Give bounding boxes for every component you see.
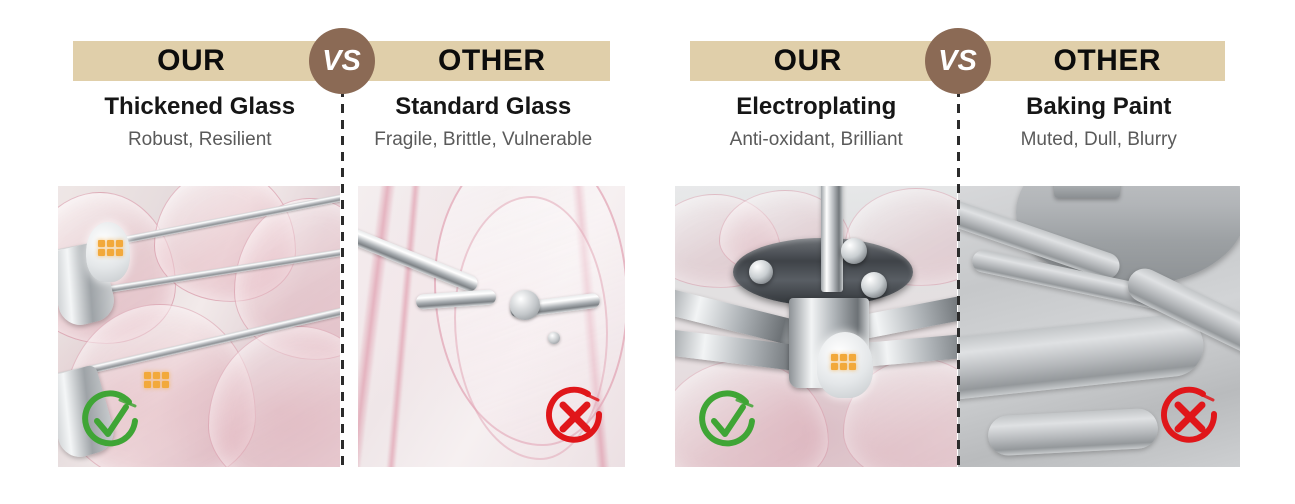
vs-badge-finish: VS: [925, 28, 991, 94]
other-title: Standard Glass: [342, 92, 626, 123]
vs-badge-label: VS: [322, 47, 361, 76]
led-chips: [831, 354, 856, 370]
vs-badge-label: VS: [938, 47, 977, 76]
banner-our-label: OUR: [157, 46, 225, 76]
other-title: Baking Paint: [958, 92, 1241, 123]
led-chips: [98, 240, 123, 256]
other-subtitle: Muted, Dull, Blurry: [958, 128, 1241, 153]
title-column-our: Electroplating Anti-oxidant, Brilliant: [675, 92, 958, 152]
dashed-divider: [957, 88, 960, 468]
our-title: Electroplating: [675, 92, 958, 123]
banner-other-label: OTHER: [438, 46, 546, 76]
vs-badge-glass: VS: [309, 28, 375, 94]
other-subtitle: Fragile, Brittle, Vulnerable: [342, 128, 626, 153]
cross-circle-icon: [539, 381, 611, 453]
banner-other-side: OTHER: [958, 41, 1226, 81]
comparison-infographic: OUR OTHER VS Thickened Glass Robust, Res…: [0, 0, 1295, 504]
banner-our-label: OUR: [774, 46, 842, 76]
ball-finial: [861, 272, 887, 298]
banner-other-side: OTHER: [342, 41, 611, 81]
our-subtitle: Anti-oxidant, Brilliant: [675, 128, 958, 153]
check-circle-icon: [691, 385, 763, 457]
photo-standard-glass: [358, 186, 625, 467]
photo-electroplating: [675, 186, 957, 467]
comparison-glass: OUR OTHER VS Thickened Glass Robust, Res…: [58, 0, 625, 504]
chrome-screw: [510, 290, 540, 320]
banner-our-side: OUR: [690, 41, 958, 81]
paint-arm: [987, 408, 1159, 457]
title-column-other: Baking Paint Muted, Dull, Blurry: [958, 92, 1241, 152]
check-circle-icon: [74, 385, 146, 457]
banner-our-side: OUR: [73, 41, 342, 81]
title-column-other: Standard Glass Fragile, Brittle, Vulnera…: [342, 92, 626, 152]
photo-baking-paint: [958, 186, 1240, 467]
title-column-our: Thickened Glass Robust, Resilient: [58, 92, 342, 152]
cross-circle-icon: [1154, 381, 1226, 453]
our-subtitle: Robust, Resilient: [58, 128, 342, 153]
ball-finial: [749, 260, 773, 284]
our-title: Thickened Glass: [58, 92, 342, 123]
comparison-finish: OUR OTHER VS Electroplating Anti-oxidant…: [675, 0, 1240, 504]
led-chips: [144, 372, 169, 388]
chrome-stem: [821, 186, 843, 292]
dashed-divider: [341, 88, 344, 468]
chrome-screw: [548, 332, 560, 344]
photo-thickened-glass: [58, 186, 340, 467]
banner-other-label: OTHER: [1054, 46, 1162, 76]
hex-nut: [1054, 186, 1120, 198]
ball-finial: [841, 238, 867, 264]
